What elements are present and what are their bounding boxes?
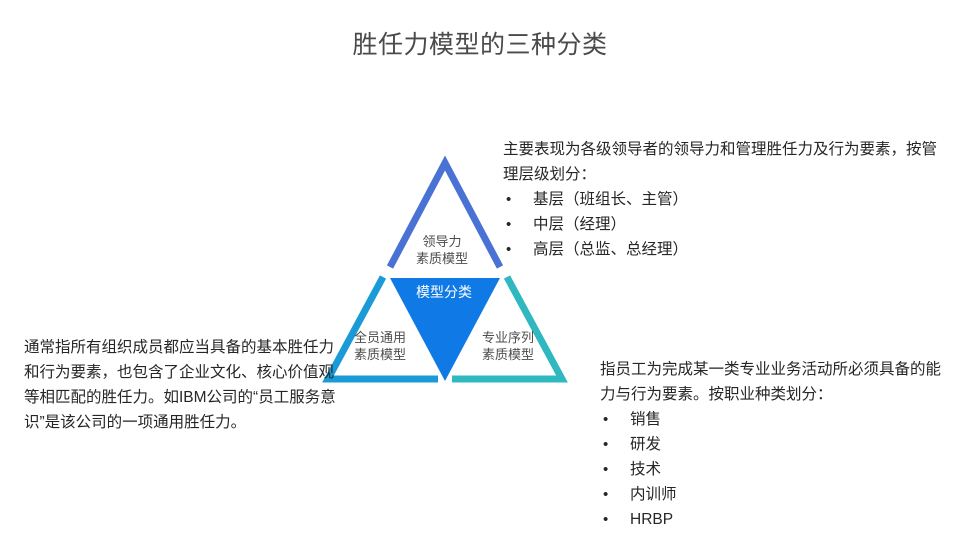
page-title: 胜任力模型的三种分类 (0, 28, 960, 62)
list-item: HRBP (600, 507, 952, 532)
pyramid-label-general-line2: 素质模型 (332, 346, 428, 363)
pyramid-label-general-line1: 全员通用 (332, 329, 428, 346)
list-item: 技术 (600, 457, 952, 482)
pyramid-label-leadership-line2: 素质模型 (394, 250, 490, 267)
list-item: 销售 (600, 407, 952, 432)
pyramid-label-professional-line1: 专业序列 (460, 329, 556, 346)
pyramid-label-center: 模型分类 (398, 284, 490, 301)
pyramid-label-general: 全员通用 素质模型 (332, 329, 428, 363)
pyramid-label-leadership-line1: 领导力 (394, 233, 490, 250)
list-item: 内训师 (600, 482, 952, 507)
list-item: 研发 (600, 432, 952, 457)
description-professional-paragraph: 指员工为完成某一类专业业务活动所必须具备的能力与行为要素。按职业种类划分： (600, 357, 952, 407)
description-general: 通常指所有组织成员都应当具备的基本胜任力和行为要素，也包含了企业文化、核心价值观… (24, 335, 344, 435)
list-item: 中层（经理） (503, 212, 951, 237)
pyramid-label-leadership: 领导力 素质模型 (394, 233, 490, 267)
description-leadership-paragraph: 主要表现为各级领导者的领导力和管理胜任力及行为要素，按管理层级划分： (503, 137, 951, 187)
pyramid-label-professional-line2: 素质模型 (460, 346, 556, 363)
description-professional: 指员工为完成某一类专业业务活动所必须具备的能力与行为要素。按职业种类划分： 销售… (600, 357, 952, 532)
list-item: 高层（总监、总经理） (503, 237, 951, 262)
description-leadership-list: 基层（班组长、主管） 中层（经理） 高层（总监、总经理） (503, 187, 951, 262)
description-general-paragraph: 通常指所有组织成员都应当具备的基本胜任力和行为要素，也包含了企业文化、核心价值观… (24, 335, 344, 435)
description-leadership: 主要表现为各级领导者的领导力和管理胜任力及行为要素，按管理层级划分： 基层（班组… (503, 137, 951, 262)
list-item: 基层（班组长、主管） (503, 187, 951, 212)
description-professional-list: 销售 研发 技术 内训师 HRBP (600, 407, 952, 532)
pyramid-label-professional: 专业序列 素质模型 (460, 329, 556, 363)
